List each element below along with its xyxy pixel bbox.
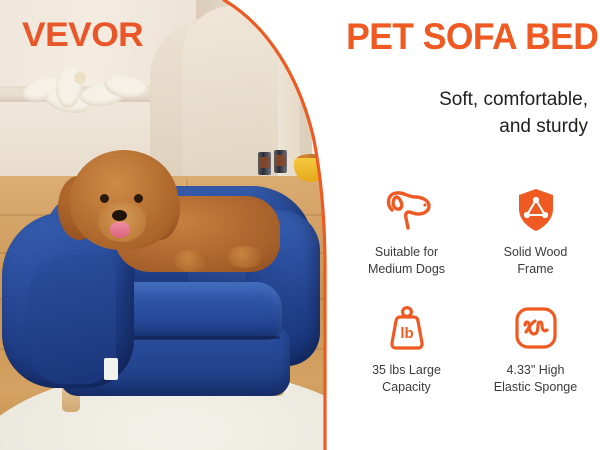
treat-bowl <box>294 158 328 182</box>
dog-paw <box>228 246 262 268</box>
shield-wood-icon <box>515 184 557 236</box>
info-panel: PET SOFA BED Soft, comfortable, and stur… <box>334 0 600 450</box>
feature-label-line-1: 4.33" High <box>494 362 577 379</box>
feature-suitable-for-medium-dogs: Suitable for Medium Dogs <box>342 184 471 302</box>
vevor-logo: VEVOR <box>22 18 143 52</box>
flower-pillow-center <box>74 72 86 84</box>
feature-grid: Suitable for Medium Dogs <box>342 184 600 420</box>
feature-label-line-1: 35 lbs Large <box>372 362 441 379</box>
feature-label: Suitable for Medium Dogs <box>368 244 445 278</box>
subtitle-line-1: Soft, comfortable, <box>336 86 588 113</box>
brand-tag <box>104 358 118 380</box>
elastic-sponge-icon <box>514 302 558 354</box>
feature-label: 4.33" High Elastic Sponge <box>494 362 577 396</box>
room-scene <box>0 0 332 450</box>
dog-nose <box>112 210 127 221</box>
feature-solid-wood-frame: Solid Wood Frame <box>471 184 600 302</box>
subtitle-line-2: and sturdy <box>336 113 588 140</box>
weight-lb-icon: lb <box>385 302 429 354</box>
feature-35-lbs-capacity: lb 35 lbs Large Capacity <box>342 302 471 420</box>
feature-label-line-2: Capacity <box>372 379 441 396</box>
feature-label-line-2: Elastic Sponge <box>494 379 577 396</box>
feature-elastic-sponge: 4.33" High Elastic Sponge <box>471 302 600 420</box>
feature-label-line-1: Suitable for <box>368 244 445 261</box>
dog-head-icon <box>382 184 432 236</box>
feature-label: Solid Wood Frame <box>504 244 568 278</box>
feature-label: 35 lbs Large Capacity <box>372 362 441 396</box>
feature-label-line-1: Solid Wood <box>504 244 568 261</box>
dog-eye <box>100 194 109 203</box>
feature-label-line-2: Frame <box>504 261 568 278</box>
svg-text:lb: lb <box>400 325 413 342</box>
door-frame <box>300 0 312 178</box>
product-photo <box>0 0 332 450</box>
subtitle: Soft, comfortable, and sturdy <box>336 86 588 140</box>
product-banner: VEVOR PET SOFA BED Soft, comfortable, an… <box>0 0 600 450</box>
dog-paw <box>174 250 208 272</box>
page-title: PET SOFA BED <box>346 16 588 58</box>
dog-tongue <box>110 222 130 238</box>
dog-eye <box>134 194 143 203</box>
poodle-dog <box>56 150 280 284</box>
feature-label-line-2: Medium Dogs <box>368 261 445 278</box>
